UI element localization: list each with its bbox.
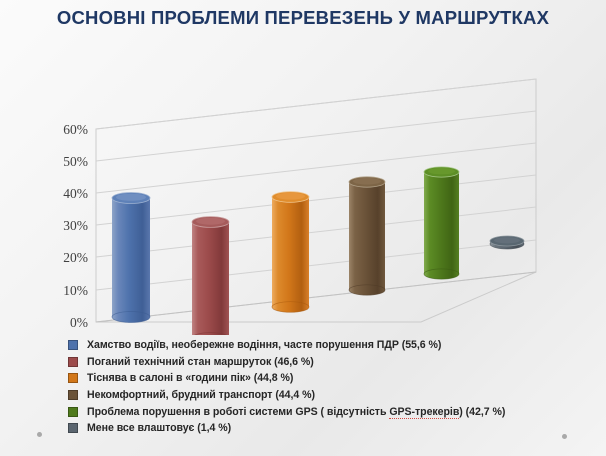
page-title: ОСНОВНІ ПРОБЛЕМИ ПЕРЕВЕЗЕНЬ У МАРШРУТКАХ xyxy=(0,7,606,29)
legend-swatch-icon-3 xyxy=(68,390,78,400)
bar-chart-svg: 60% 50% 40% 30% 20% 10% 0% xyxy=(0,50,606,335)
y-tick-30: 30% xyxy=(63,218,88,233)
y-tick-10: 10% xyxy=(63,283,88,298)
legend-label-4: Проблема порушення в роботі системи GPS … xyxy=(87,406,505,418)
chart-gridlines xyxy=(96,79,536,322)
y-tick-60: 60% xyxy=(63,122,88,137)
bar-5[interactable] xyxy=(424,167,459,279)
y-tick-20: 20% xyxy=(63,250,88,265)
bar-2[interactable] xyxy=(192,217,229,335)
legend-item-4[interactable]: Проблема порушення в роботі системи GPS … xyxy=(68,403,598,420)
legend-swatch-icon-4 xyxy=(68,407,78,417)
legend-item-1[interactable]: Поганий технічний стан маршруток (46,6 %… xyxy=(68,354,598,371)
bar-3[interactable] xyxy=(272,192,309,313)
legend-item-2[interactable]: Тіснява в салоні в «години пік» (44,8 %) xyxy=(68,370,598,387)
decorative-dot-left xyxy=(37,432,42,437)
chart-legend: Хамство водіїв, необережне водіння, част… xyxy=(68,337,598,437)
legend-item-3[interactable]: Некомфортний, брудний транспорт (44,4 %) xyxy=(68,387,598,404)
bar-1[interactable] xyxy=(112,193,150,336)
legend-label-0: Хамство водіїв, необережне водіння, част… xyxy=(87,339,441,351)
y-axis-ticks: 60% 50% 40% 30% 20% 10% 0% xyxy=(63,122,88,330)
legend-label-5: Мене все влаштовує (1,4 %) xyxy=(87,422,231,434)
y-tick-0: 0% xyxy=(70,315,88,330)
legend-item-5[interactable]: Мене все влаштовує (1,4 %) xyxy=(68,420,598,437)
legend-label-1: Поганий технічний стан маршруток (46,6 %… xyxy=(87,356,314,368)
bar-6[interactable] xyxy=(490,236,524,249)
spellcheck-underline: GPS-трекерів xyxy=(389,406,459,419)
y-tick-40: 40% xyxy=(63,186,88,201)
legend-swatch-icon-2 xyxy=(68,373,78,383)
chart-plot-area: 60% 50% 40% 30% 20% 10% 0% xyxy=(0,50,606,335)
legend-swatch-icon-0 xyxy=(68,340,78,350)
legend-item-0[interactable]: Хамство водіїв, необережне водіння, част… xyxy=(68,337,598,354)
legend-swatch-icon-1 xyxy=(68,357,78,367)
legend-label-2: Тіснява в салоні в «години пік» (44,8 %) xyxy=(87,372,293,384)
bar-4[interactable] xyxy=(349,177,385,295)
y-tick-50: 50% xyxy=(63,154,88,169)
legend-swatch-icon-5 xyxy=(68,423,78,433)
legend-label-3: Некомфортний, брудний транспорт (44,4 %) xyxy=(87,389,315,401)
